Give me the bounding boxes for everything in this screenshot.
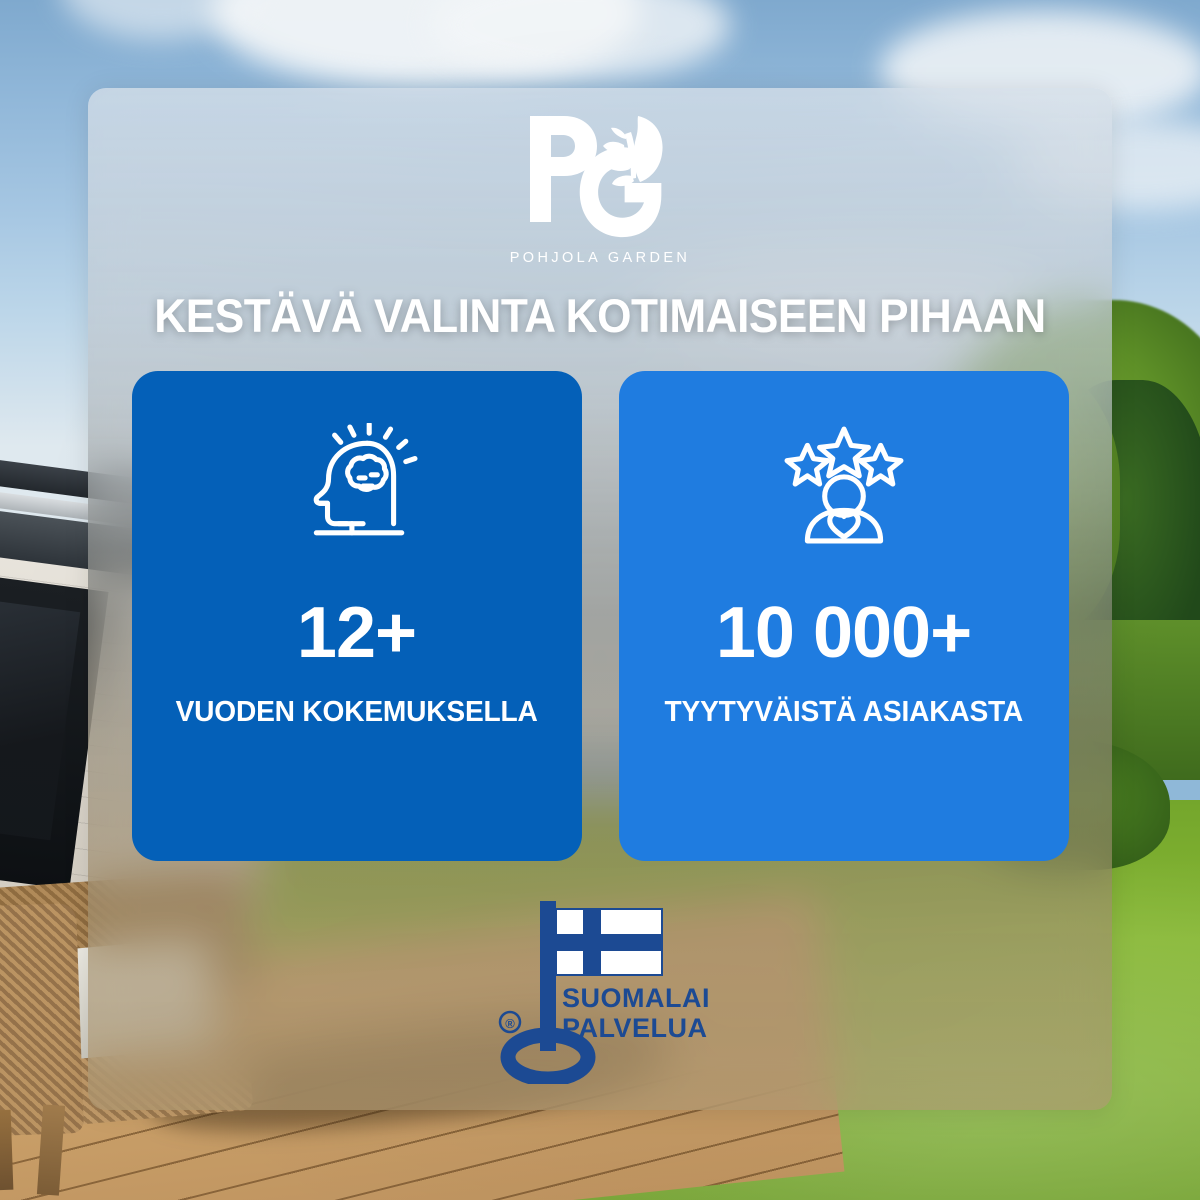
certification-line2: PALVELUA [562,1013,708,1043]
stat-label: VUODEN KOKEMUKSELLA [175,697,537,729]
certification-line1: SUOMALAISTA [562,983,710,1013]
stat-number: 10 000+ [716,597,971,669]
stat-card-customers[interactable]: 10 000+ TYYTYVÄISTÄ ASIAKASTA [619,371,1069,861]
stat-cards: 12+ VUODEN KOKEMUKSELLA [126,371,1074,861]
stat-number: 12+ [297,597,416,669]
registered-mark: ® [505,1016,515,1031]
brand-logo: POHJOLA GARDEN [470,110,730,266]
head-with-brain-idea-icon [296,423,418,545]
headline: KESTÄVÄ VALINTA KOTIMAISEEN PIHAAN [119,288,1082,343]
avainlippu-key-flag-icon: SUOMALAISTA PALVELUA ® [490,889,710,1084]
promo-graphic: POHJOLA GARDEN KESTÄVÄ VALINTA KOTIMAISE… [0,0,1200,1200]
pg-leaf-monogram-icon [520,110,680,242]
person-heart-three-stars-icon [783,423,905,545]
brand-wordmark: POHJOLA GARDEN [470,250,730,266]
stat-label: TYYTYVÄISTÄ ASIAKASTA [664,697,1023,729]
stat-card-experience[interactable]: 12+ VUODEN KOKEMUKSELLA [132,371,582,861]
frosted-glass-panel: POHJOLA GARDEN KESTÄVÄ VALINTA KOTIMAISE… [88,88,1112,1110]
